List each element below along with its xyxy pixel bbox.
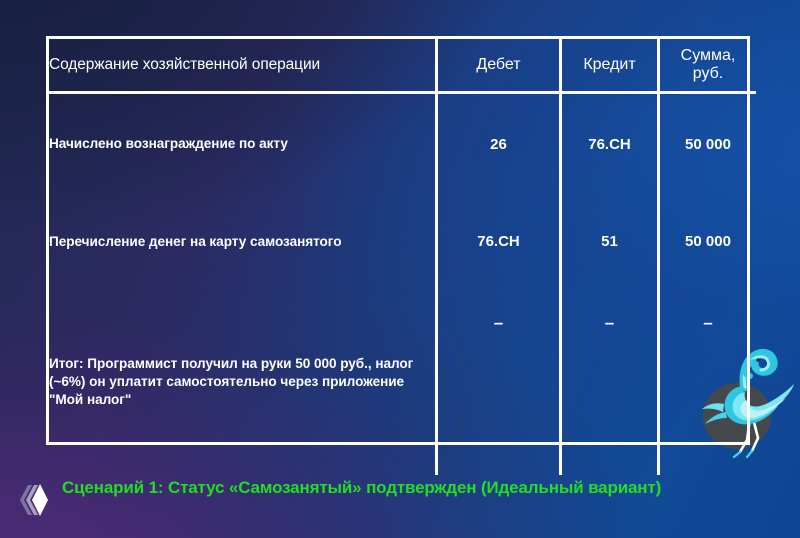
table: Содержание хозяйственной операции Дебет … [49,39,756,475]
column-header-amount: Сумма, руб. [659,39,757,93]
cell-description: Начислено вознаграждение по акту [49,93,437,195]
cell-credit: – [561,289,659,475]
column-header-credit: Кредит [561,39,659,93]
column-header-description: Содержание хозяйственной операции [49,39,437,93]
accounting-entries-table: Содержание хозяйственной операции Дебет … [46,36,750,445]
cell-debit: 26 [437,93,561,195]
cell-credit: 76.СН [561,93,659,195]
slide-root: Содержание хозяйственной операции Дебет … [0,0,800,538]
cell-amount: – [659,289,757,475]
column-header-debit: Дебет [437,39,561,93]
table-row: Итог: Программист получил на руки 50 000… [49,289,756,475]
table-header: Содержание хозяйственной операции Дебет … [49,39,756,93]
table-row: Начислено вознаграждение по акту 26 76.С… [49,93,756,195]
cell-description: Итог: Программист получил на руки 50 000… [49,289,437,475]
cell-amount: 50 000 [659,93,757,195]
column-header-amount-line2: руб. [693,65,724,82]
cell-debit: – [437,289,561,475]
cell-description: Перечисление денег на карту самозанятого [49,194,437,289]
table-row: Перечисление денег на карту самозанятого… [49,194,756,289]
table-body: Начислено вознаграждение по акту 26 76.С… [49,93,756,476]
cell-amount: 50 000 [659,194,757,289]
caption-text: Сценарий 1: Статус «Самозанятый» подтвер… [62,478,661,498]
cell-debit: 76.СН [437,194,561,289]
cell-credit: 51 [561,194,659,289]
table-header-row: Содержание хозяйственной операции Дебет … [49,39,756,93]
column-header-amount-line1: Сумма, [681,47,736,64]
layered-diamond-logo-icon [10,477,54,523]
